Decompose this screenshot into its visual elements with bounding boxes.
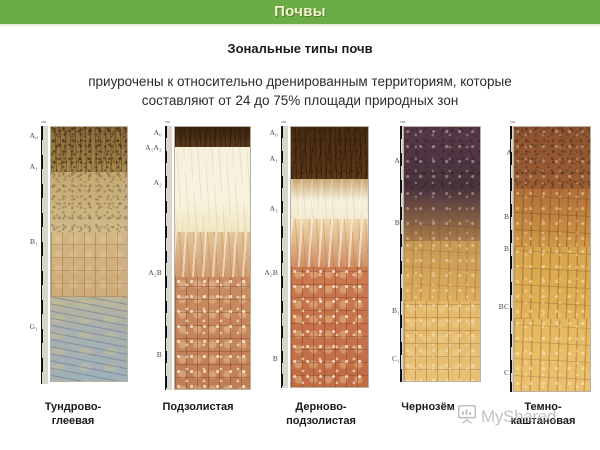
ruler-tick <box>165 301 168 313</box>
ruler-unit: см <box>165 119 170 124</box>
horizon-labels: A₀ A₁ A₂ A₂B B <box>248 126 278 390</box>
horizon-label: A₁A₂ <box>145 143 162 152</box>
soil-layer <box>291 219 368 267</box>
ruler-tick <box>510 204 513 217</box>
horizon-label: A₂ <box>270 204 278 213</box>
ruler-tick <box>281 251 284 263</box>
profile-caption-chernozem: Чернозём <box>378 400 478 414</box>
horizon-labels: A₀ A₁ B₁ G₁ <box>8 126 38 384</box>
caption-line: подзолистая <box>262 414 380 428</box>
horizon-labels: A B₁ B₂ BC₁ C₁ <box>482 126 512 394</box>
ruler-tick <box>281 374 284 386</box>
soil-layer <box>514 127 590 189</box>
soil-layer <box>51 127 127 172</box>
ruler-tick <box>510 152 513 165</box>
ruler-unit: см <box>41 119 46 124</box>
ruler-tick <box>400 261 403 274</box>
profile-caption-podzol: Подзолистая <box>142 400 254 414</box>
ruler-tick <box>165 151 168 163</box>
ruler-tick <box>165 376 168 388</box>
ruler-tick <box>281 201 284 213</box>
soil-layer <box>404 301 480 382</box>
ruler-tick <box>165 226 168 238</box>
ruler-tick <box>281 351 284 363</box>
ruler-tick <box>400 126 403 139</box>
ruler-tick <box>510 178 513 191</box>
soil-layer <box>404 127 480 189</box>
ruler-tick <box>41 184 44 198</box>
soil-layer <box>291 127 368 179</box>
horizon-label: A₂B <box>264 268 278 277</box>
soil-layer <box>51 297 127 382</box>
caption-line: Подзолистая <box>142 400 254 414</box>
horizon-label: B₁ <box>30 237 38 246</box>
horizon-label: A₀ <box>30 131 38 140</box>
ruler-tick <box>281 151 284 163</box>
horizon-label: B₁ <box>392 306 400 315</box>
ruler-tick <box>281 326 284 338</box>
profile-caption-sod-podzol: Дерново- подзолистая <box>262 400 380 428</box>
ruler-tick <box>510 126 513 139</box>
horizon-label: A₁ <box>30 162 38 171</box>
soil-layer <box>291 267 368 388</box>
soil-layer <box>175 232 250 277</box>
caption-line: глеевая <box>18 414 128 428</box>
ruler-tick <box>400 342 403 355</box>
section-paragraph: приурочены к относительно дренированным … <box>50 72 550 110</box>
soil-profile-podzol: A₀ A₁A₂ A₂ A₂B B см 0 10 20 30 40 50 60 <box>132 126 246 392</box>
ruler-tick <box>41 155 44 169</box>
soil-profile-chernozem: A B B₁ C₁ см 0 10 20 30 40 50 60 70 80 <box>370 126 482 384</box>
soil-column-image <box>513 126 591 392</box>
ruler-tick <box>510 256 513 269</box>
ruler-tick <box>41 126 44 140</box>
horizon-label: G₁ <box>30 322 38 331</box>
ruler-tick <box>165 276 168 288</box>
ruler-tick <box>281 226 284 238</box>
depth-ruler: см 0 10 20 30 40 50 60 70 80 <box>41 126 48 384</box>
ruler-tick <box>281 301 284 313</box>
horizon-labels: A₀ A₁A₂ A₂ A₂B B <box>132 126 162 392</box>
caption-line: Тундрово- <box>18 400 128 414</box>
ruler-tick <box>41 271 44 285</box>
ruler-tick <box>281 176 284 188</box>
ruler-tick <box>400 207 403 220</box>
ruler-tick <box>510 334 513 347</box>
ruler-tick <box>510 230 513 243</box>
soil-column-image <box>403 126 481 382</box>
ruler-tick <box>165 251 168 263</box>
soil-column-image <box>290 126 369 388</box>
ruler-unit: см <box>400 119 405 124</box>
ruler-tick <box>165 126 168 138</box>
ruler-tick <box>41 213 44 227</box>
soil-layer <box>404 189 480 241</box>
ruler-tick <box>400 153 403 166</box>
profile-caption-tundra-gley: Тундрово- глеевая <box>18 400 128 428</box>
header-banner: Почвы <box>0 0 600 26</box>
soil-layer <box>514 247 590 319</box>
horizon-label: A₂ <box>154 178 162 187</box>
soil-layer <box>51 232 127 297</box>
ruler-tick <box>165 351 168 363</box>
caption-line: Чернозём <box>378 400 478 414</box>
soil-layer <box>51 172 127 232</box>
ruler-tick <box>165 176 168 188</box>
ruler-tick <box>165 201 168 213</box>
soil-profile-sod-podzol: A₀ A₁ A₂ A₂B B см 0 10 20 30 40 50 60 <box>248 126 364 390</box>
horizon-label: B <box>273 354 278 363</box>
depth-ruler: см 0 10 20 30 40 50 60 70 80 90 100 <box>165 126 172 390</box>
horizon-label: A₀ <box>154 128 162 137</box>
horizon-labels: A B B₁ C₁ <box>370 126 400 384</box>
soil-layer <box>404 241 480 301</box>
ruler-tick <box>41 358 44 372</box>
ruler-tick <box>510 382 513 392</box>
soil-profile-dark-chestnut: A B₁ B₂ BC₁ C₁ см 0 10 20 30 40 50 60 <box>482 126 594 394</box>
horizon-label: A₂B <box>148 268 162 277</box>
ruler-tick <box>400 369 403 382</box>
horizon-label: B <box>157 350 162 359</box>
soil-layer <box>291 179 368 219</box>
ruler-tick <box>41 300 44 314</box>
soil-layer <box>175 127 250 147</box>
soil-layer <box>175 147 250 232</box>
caption-line: Темно- <box>488 400 598 414</box>
horizon-label: A₁ <box>270 154 278 163</box>
ruler-tick <box>510 282 513 295</box>
ruler-tick <box>41 329 44 343</box>
depth-ruler: см 0 10 20 30 40 50 60 70 80 90 100 <box>281 126 288 388</box>
caption-line: Дерново- <box>262 400 380 414</box>
caption-line: каштановая <box>488 414 598 428</box>
ruler-unit: см <box>510 119 515 124</box>
soil-column-image <box>174 126 251 390</box>
section-heading: Зональные типы почв <box>0 41 600 56</box>
ruler-tick <box>510 308 513 321</box>
page-title: Почвы <box>0 3 600 20</box>
ruler-tick <box>281 276 284 288</box>
soil-layer <box>175 277 250 390</box>
ruler-tick <box>400 180 403 193</box>
ruler-tick <box>510 360 513 373</box>
soil-profile-tundra-gley: A₀ A₁ B₁ G₁ см 0 10 20 30 40 50 60 70 80 <box>8 126 122 384</box>
ruler-tick <box>400 234 403 247</box>
ruler-unit: см <box>281 119 286 124</box>
ruler-tick <box>41 242 44 256</box>
profile-caption-dark-chestnut: Темно- каштановая <box>488 400 598 428</box>
soil-layer <box>514 319 590 392</box>
horizon-label: A₀ <box>270 128 278 137</box>
soil-column-image <box>50 126 128 382</box>
ruler-tick <box>400 315 403 328</box>
ruler-tick <box>281 126 284 138</box>
horizon-label: C₁ <box>392 354 400 363</box>
ruler-tick <box>165 326 168 338</box>
soil-layer <box>514 189 590 247</box>
ruler-tick <box>400 288 403 301</box>
